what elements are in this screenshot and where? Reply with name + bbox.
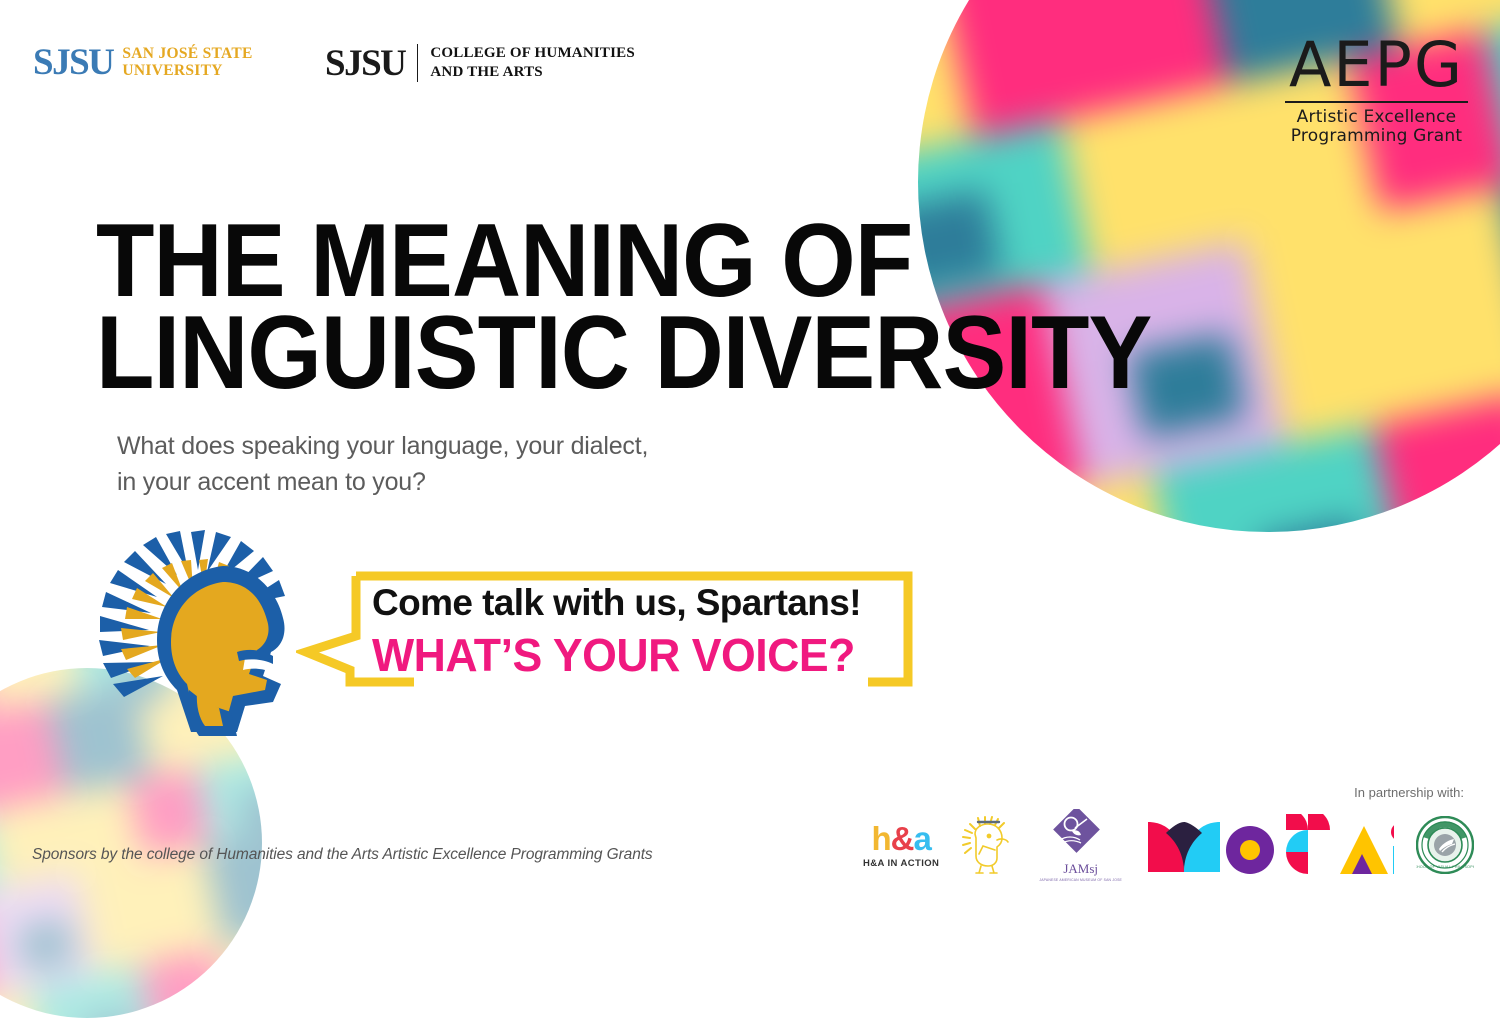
aepg-subtitle: Artistic Excellence Programming Grant — [1285, 108, 1468, 147]
college-tagline-line2: AND THE ARTS — [430, 64, 542, 80]
partner-logo-jamsj[interactable]: JAMsj JAPANESE AMERICAN MUSEUM OF SAN JO… — [1039, 809, 1122, 882]
callout-line-2: WHAT’S YOUR VOICE? — [372, 628, 855, 682]
school-seal-icon: SCHOOL OF VISUAL PHILOSOPHY — [1416, 816, 1474, 874]
partner-logo-school-of-visual-philosophy[interactable]: SCHOOL OF VISUAL PHILOSOPHY — [1416, 816, 1474, 874]
mosaic-wordmark-icon — [1144, 814, 1394, 876]
callout-line-1: Come talk with us, Spartans! — [372, 582, 861, 624]
sjsu-wordmark: SJSU — [33, 44, 113, 81]
aepg-subtitle-line1: Artistic Excellence — [1297, 107, 1457, 127]
sjsu-college-wordmark: SJSU — [325, 45, 405, 82]
page-subtitle: What does speaking your language, your d… — [117, 428, 648, 501]
header: SJSU SAN JOSÉ STATE UNIVERSITY SJSU COLL… — [0, 0, 1500, 130]
jamsj-wordmark: JAMsj — [1063, 861, 1098, 877]
partner-logo-spartan-chick[interactable] — [961, 816, 1017, 874]
sjsu-tagline-line1: SAN JOSÉ STATE — [122, 45, 252, 62]
sponsor-note: Sponsors by the college of Humanities an… — [32, 846, 653, 864]
ha-subtitle: H&A IN ACTION — [863, 858, 939, 869]
sjsu-spartan-helmet-icon — [95, 526, 310, 743]
partner-logo-ha-in-action[interactable]: h&a H&A IN ACTION — [863, 822, 939, 869]
jamsj-diamond-icon — [1046, 809, 1116, 865]
college-tagline: COLLEGE OF HUMANITIES AND THE ARTS — [430, 44, 635, 82]
spartan-helmet-body — [157, 566, 285, 736]
aepg-logo[interactable]: AEPG Artistic Excellence Programming Gra… — [1285, 36, 1468, 147]
ha-wordmark: h&a — [871, 822, 930, 855]
spartan-chick-icon — [961, 816, 1017, 874]
page-title: THE MEANING OF LINGUISTIC DIVERSITY — [96, 216, 1151, 399]
sjsu-tagline-line2: UNIVERSITY — [122, 62, 222, 79]
subhead-line-2: in your accent mean to you? — [117, 464, 648, 500]
college-tagline-line1: COLLEGE OF HUMANITIES — [430, 45, 635, 61]
sjsu-college-of-humanities-logo[interactable]: SJSU COLLEGE OF HUMANITIES AND THE ARTS — [325, 44, 635, 82]
sjsu-tagline: SAN JOSÉ STATE UNIVERSITY — [122, 46, 252, 79]
aepg-subtitle-line2: Programming Grant — [1291, 126, 1462, 146]
partner-logo-row: h&a H&A IN ACTION — [863, 806, 1474, 884]
subhead-line-1: What does speaking your language, your d… — [117, 428, 648, 464]
aepg-wordmark: AEPG — [1285, 36, 1468, 103]
seal-label: SCHOOL OF VISUAL PHILOSOPHY — [1416, 865, 1474, 869]
logo-divider — [417, 44, 418, 82]
headline-line-1: THE MEANING OF — [96, 216, 1151, 308]
headline-line-2: LINGUISTIC DIVERSITY — [96, 308, 1151, 400]
callout-speech-bubble: Come talk with us, Spartans! WHAT’S YOUR… — [296, 566, 924, 692]
jamsj-subtitle: JAPANESE AMERICAN MUSEUM OF SAN JOSE — [1039, 878, 1122, 882]
partnership-label: In partnership with: — [1354, 785, 1464, 800]
sjsu-university-logo[interactable]: SJSU SAN JOSÉ STATE UNIVERSITY — [33, 44, 253, 81]
partner-logo-mosaic[interactable] — [1144, 814, 1394, 876]
